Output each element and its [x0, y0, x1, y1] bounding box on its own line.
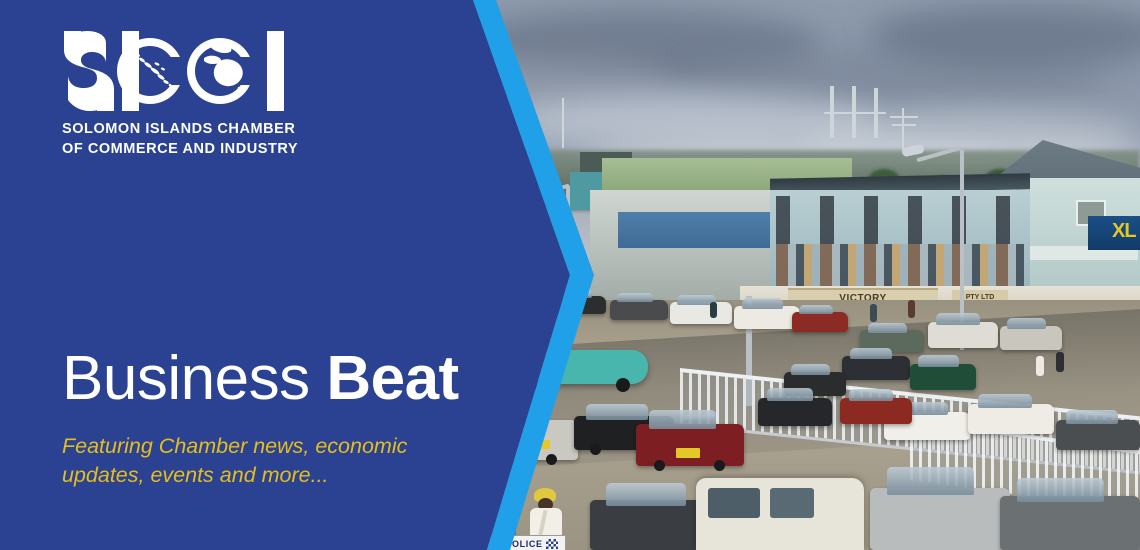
subtitle-line-1: Featuring Chamber news, economic — [62, 432, 442, 461]
minibus-window — [708, 488, 760, 518]
page-subtitle: Featuring Chamber news, economic updates… — [62, 432, 442, 490]
vehicle — [910, 364, 976, 390]
vehicle — [792, 312, 848, 332]
checker-pattern-right — [546, 539, 558, 549]
antenna-mast — [902, 108, 904, 150]
vehicle — [734, 306, 800, 329]
distant-pedestrian — [1056, 352, 1064, 372]
business-beat-banner: XL VICTORY PTY LTD — [0, 0, 1140, 550]
distant-pedestrian — [1036, 356, 1044, 376]
antenna-crossbar — [892, 124, 916, 126]
solomon-islands-map — [135, 53, 175, 89]
building-columns — [776, 196, 1024, 244]
sicci-name-line-1: SOLOMON ISLANDS CHAMBER — [62, 120, 302, 140]
vehicle — [758, 398, 832, 426]
vehicle — [1000, 496, 1140, 550]
sicci-logo-tagline: SOLOMON ISLANDS CHAMBER OF COMMERCE AND … — [62, 120, 302, 159]
wheel — [714, 460, 725, 471]
sicci-logo: SOLOMON ISLANDS CHAMBER OF COMMERCE AND … — [62, 30, 302, 159]
headline-bold: Beat — [326, 344, 458, 413]
distant-pedestrian — [908, 300, 915, 318]
wheel — [590, 444, 601, 455]
sicci-logo-mark — [62, 30, 298, 112]
sicci-name-line-2: OF COMMERCE AND INDUSTRY — [62, 140, 302, 160]
vehicle — [1056, 420, 1140, 450]
vehicle-plate — [676, 448, 700, 458]
vehicle — [1000, 326, 1062, 350]
vehicle — [870, 488, 1010, 550]
xl-sign-text: XL — [1112, 220, 1136, 243]
vehicle — [610, 300, 668, 320]
sicci-acronym-icon — [62, 30, 298, 112]
subtitle-line-2: updates, events and more... — [62, 461, 442, 490]
distant-pedestrian — [870, 304, 877, 322]
headline-light: Business — [62, 344, 310, 413]
vehicle — [928, 322, 998, 348]
antenna-crossbar — [824, 112, 886, 114]
vehicle — [670, 302, 732, 324]
vehicle — [840, 398, 912, 424]
page-title: Business Beat — [62, 348, 459, 410]
distant-pedestrian — [710, 302, 717, 318]
wheel — [546, 454, 557, 465]
truck-wheel — [616, 378, 630, 392]
wheel — [654, 460, 665, 471]
antenna-mast — [562, 98, 564, 148]
vehicle — [968, 404, 1054, 434]
antenna-crossbar — [890, 116, 918, 118]
vehicle — [636, 424, 744, 466]
minibus-window — [770, 488, 814, 518]
vehicle — [842, 356, 910, 380]
